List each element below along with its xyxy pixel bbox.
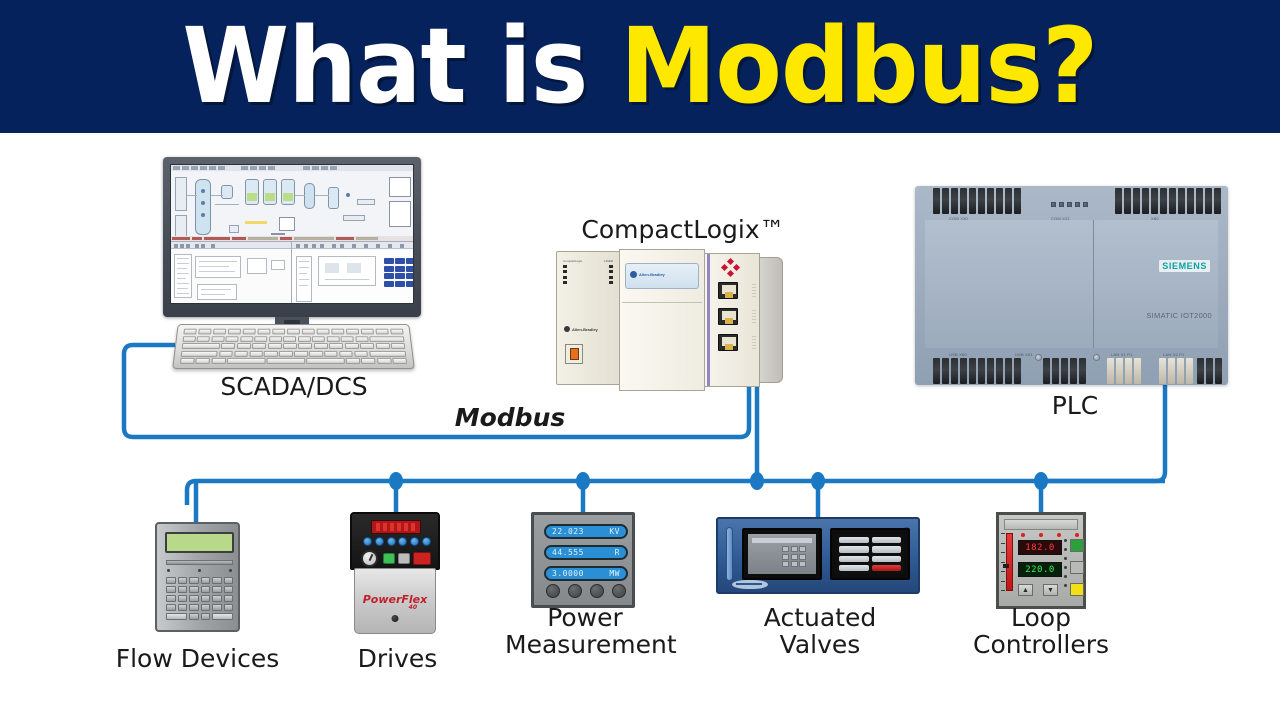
loop-controller-status-green — [1070, 539, 1084, 552]
loop-controller-down-button[interactable]: ▼ — [1043, 584, 1058, 596]
drive-rotary-knob[interactable] — [361, 550, 378, 567]
loop-controller-header — [1004, 519, 1078, 530]
bus-label: Modbus — [400, 404, 620, 431]
valve-status-bars — [836, 534, 904, 574]
actuated-valves-device — [716, 517, 920, 594]
ethernet-port-2[interactable] — [718, 308, 738, 325]
logic-block — [247, 258, 267, 274]
valve-brand-logo — [732, 580, 768, 589]
drive-stop-button[interactable] — [413, 552, 431, 565]
power-meter-readout-2: 44.555 R — [544, 545, 628, 560]
loop-controller-device: 182.0 220.0 ▲ ▼ — [996, 512, 1086, 609]
power-meter-readout-1: 22.023 KV — [544, 524, 628, 539]
report-tree — [296, 256, 312, 302]
power-meter-device: 22.023 KV 44.555 R 3.0000 MW — [531, 512, 635, 608]
plc-face-split — [1093, 220, 1094, 348]
loop-controller-leds — [1021, 533, 1079, 537]
drive-keypad-bezel — [350, 512, 440, 570]
drive-display — [371, 520, 421, 534]
plc-lan-port-block-2[interactable] — [1159, 358, 1193, 384]
plc-terminal-block-bottom-mid[interactable] — [1043, 358, 1086, 384]
powerflex-series: 40 — [409, 604, 417, 611]
loop-controllers-label: Loop Controllers — [961, 604, 1121, 658]
scada-monitor — [163, 157, 421, 317]
drive-buttons[interactable] — [363, 537, 431, 546]
logic-block — [195, 256, 241, 278]
power-meter-readout-3: 3.0000 MW — [544, 566, 628, 581]
diagram-canvas: What is Modbus? — [0, 0, 1280, 720]
loop-controller-pv-display: 182.0 — [1018, 540, 1062, 555]
flow-device-leds — [167, 569, 232, 572]
clx-io-module: Allen-Bradley — [619, 249, 705, 391]
plc-label: PLC — [1010, 392, 1140, 419]
plc-terminal-block-bottom-left[interactable] — [933, 358, 1021, 384]
drive-reverse-button[interactable] — [398, 553, 410, 564]
bus-junction-dot — [811, 472, 825, 490]
hmi-logic-pane — [171, 242, 292, 303]
keyboard-keys — [180, 329, 407, 364]
plc-lan-port-block-1[interactable] — [1107, 358, 1141, 384]
clx-processor-module: CompactLogixL16ER Allen-Bradley — [556, 251, 620, 385]
plc-port-label-lan-x2: LAN X2 P1 — [1163, 352, 1185, 357]
valve-hmi-keypad — [782, 546, 806, 567]
loop-controller-pv-value: 182.0 — [1025, 543, 1055, 553]
compactlogix-label: CompactLogix™ — [538, 216, 828, 243]
valve-panel-handle-left[interactable] — [726, 527, 733, 581]
clx-vent-slots — [752, 336, 756, 349]
plc-terminal-block-top-right[interactable] — [1115, 188, 1221, 214]
valve-hmi-screen[interactable] — [742, 528, 822, 580]
valve-alarm-bar — [872, 565, 902, 571]
ethernet-port-1[interactable] — [718, 282, 738, 299]
siemens-plc-device: COM X30 COM X31 X80 SIEMENS SIMATIC IOT2… — [915, 186, 1228, 385]
clx-led-block: CompactLogixL16ER — [563, 259, 613, 289]
power-meter-unit-3: MW — [609, 569, 620, 578]
clx-brand-text: Allen-Bradley — [572, 327, 598, 332]
clx-accent-stripe — [707, 254, 710, 386]
title-banner: What is Modbus? — [0, 0, 1280, 133]
flow-device-display — [165, 532, 234, 553]
bus-junction-dot — [576, 472, 590, 490]
clx-panel-brand-text: Allen-Bradley — [639, 272, 665, 277]
loop-controller-scale — [1001, 533, 1005, 591]
ethernet-port-3[interactable] — [718, 334, 738, 351]
power-measurement-label: Power Measurement — [505, 604, 665, 658]
drives-label: Drives — [330, 645, 465, 672]
siemens-logo: SIEMENS — [1159, 260, 1210, 272]
loop-controller-up-button[interactable]: ▲ — [1018, 584, 1033, 596]
power-meter-unit-1: KV — [609, 527, 620, 536]
hmi-alarm-bar — [171, 236, 413, 241]
plc-port-label-usb-x61: USB X61 — [1015, 352, 1033, 357]
clx-display-panel: Allen-Bradley — [625, 263, 699, 289]
flow-device-slot — [166, 560, 233, 565]
power-meter-value-3: 3.0000 — [552, 569, 584, 578]
plc-terminal-block-bottom-right[interactable] — [1197, 358, 1222, 384]
clx-key-switch[interactable] — [565, 344, 583, 364]
bus-junction-dot — [1034, 472, 1048, 490]
clx-ethernet-module — [704, 253, 760, 387]
flow-device-keypad[interactable] — [166, 577, 233, 620]
loop-controller-status-gray — [1070, 561, 1084, 574]
actuated-valves-label: Actuated Valves — [740, 604, 900, 658]
monitor-bezel — [163, 157, 421, 317]
drive-device: PowerFlex 40 — [350, 512, 440, 634]
power-meter-value-1: 22.023 — [552, 527, 584, 536]
powerflex-logo: PowerFlex — [355, 593, 435, 606]
compactlogix-device: CompactLogixL16ER Allen-Bradley Allen-Br… — [556, 249, 801, 391]
clx-led-caption-right: L16ER — [604, 259, 613, 263]
logic-tree — [174, 254, 192, 298]
clx-panel-brand: Allen-Bradley — [630, 271, 665, 278]
power-meter-unit-2: R — [615, 548, 620, 557]
valve-hmi-content — [748, 534, 816, 574]
plc-mode-button[interactable] — [1093, 354, 1100, 361]
valve-status-screen[interactable] — [830, 528, 910, 580]
power-meter-buttons[interactable] — [546, 584, 626, 598]
clx-module-seam — [622, 302, 702, 303]
loop-controller-sp-value: 220.0 — [1025, 565, 1055, 575]
flow-devices-label: Flow Devices — [110, 645, 285, 672]
plc-front-face — [925, 220, 1218, 348]
clx-vent-slots — [752, 284, 756, 297]
scada-label: SCADA/DCS — [174, 373, 414, 400]
title-text-white: What is — [183, 5, 621, 127]
loop-controller-bargraph — [1006, 533, 1013, 591]
clx-end-cap — [759, 257, 783, 383]
title-text-highlight: Modbus? — [620, 5, 1097, 127]
loop-controller-status-yellow — [1070, 583, 1084, 596]
report-toolbar — [292, 242, 413, 249]
drive-housing: PowerFlex 40 — [354, 568, 436, 634]
plc-status-leds — [1051, 202, 1088, 207]
page-title: What is Modbus? — [183, 14, 1098, 119]
clx-vent-slots — [752, 310, 756, 323]
monitor-screen[interactable] — [170, 164, 414, 304]
report-keypad[interactable] — [384, 258, 414, 287]
hmi-mimic-pane — [171, 165, 413, 242]
plc-port-label-lan-x1: LAN X1 P1 — [1111, 352, 1133, 357]
power-meter-value-2: 44.555 — [552, 548, 584, 557]
plc-port-label-usb-x60: USB X60 — [949, 352, 967, 357]
bus-junction-dot — [389, 472, 403, 490]
allen-bradley-logo: Allen-Bradley — [564, 326, 598, 332]
loop-controller-sp-display: 220.0 — [1018, 562, 1062, 577]
drive-start-button[interactable] — [383, 553, 395, 564]
bus-junction-dot — [750, 472, 764, 490]
plc-reset-button[interactable] — [1035, 354, 1042, 361]
plc-terminal-block-top-left[interactable] — [933, 188, 1021, 214]
process-mimic — [171, 171, 413, 236]
logic-toolbar — [171, 242, 291, 249]
clx-led-caption-left: CompactLogix — [563, 259, 582, 263]
flow-device — [155, 522, 240, 632]
hmi-report-pane — [292, 242, 413, 303]
logic-block — [271, 260, 285, 270]
plc-model-text: SIMATIC IOT2000 — [1146, 311, 1212, 320]
logic-block — [197, 284, 237, 300]
clx-diamond-logo — [722, 259, 739, 276]
loop-controller-indicator-dots — [1064, 539, 1068, 587]
scada-keyboard[interactable] — [172, 324, 415, 369]
drive-screw — [392, 615, 399, 622]
report-diagram — [318, 256, 376, 286]
